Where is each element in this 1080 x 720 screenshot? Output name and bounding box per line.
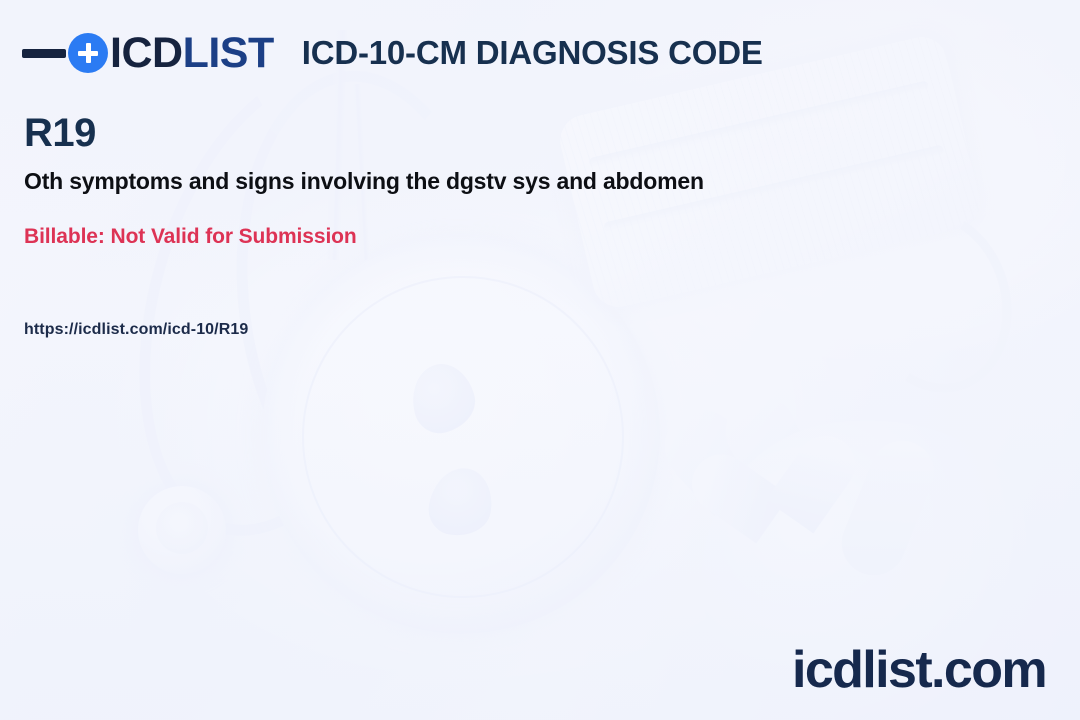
billable-status-badge: Billable: Not Valid for Submission	[24, 225, 1024, 249]
background-wash	[0, 0, 1080, 720]
tray-item-two-icon	[425, 463, 498, 541]
hand-finger-one-icon	[649, 395, 804, 556]
page-header: ICDLIST ICD-10-CM DIAGNOSIS CODE	[22, 26, 763, 80]
tray-item-one-icon	[405, 358, 482, 439]
icd-code-card: ICDLIST ICD-10-CM DIAGNOSIS CODE R19 Oth…	[0, 0, 1080, 720]
logo-word-icd: ICD	[110, 29, 183, 77]
page-title: ICD-10-CM DIAGNOSIS CODE	[302, 34, 763, 72]
footer-brand: icdlist.com	[792, 644, 1046, 696]
source-url[interactable]: https://icdlist.com/icd-10/R19	[24, 321, 1024, 339]
icdlist-logo[interactable]: ICDLIST	[22, 26, 274, 80]
stethoscope-bell-icon	[138, 486, 226, 574]
logo-wordmark: ICDLIST	[110, 32, 274, 75]
plus-circle-icon	[68, 33, 108, 73]
diagnosis-code: R19	[24, 112, 1024, 154]
hand-finger-two-icon	[713, 384, 841, 540]
heart-icon	[685, 443, 815, 573]
background-veil	[0, 0, 1080, 720]
background-artwork	[0, 0, 1080, 720]
hand-thumb-icon	[832, 431, 944, 585]
dash-icon	[22, 49, 66, 58]
diagnosis-description: Oth symptoms and signs involving the dgs…	[24, 168, 1024, 195]
logo-word-list: LIST	[183, 29, 274, 77]
code-details: R19 Oth symptoms and signs involving the…	[24, 112, 1024, 339]
